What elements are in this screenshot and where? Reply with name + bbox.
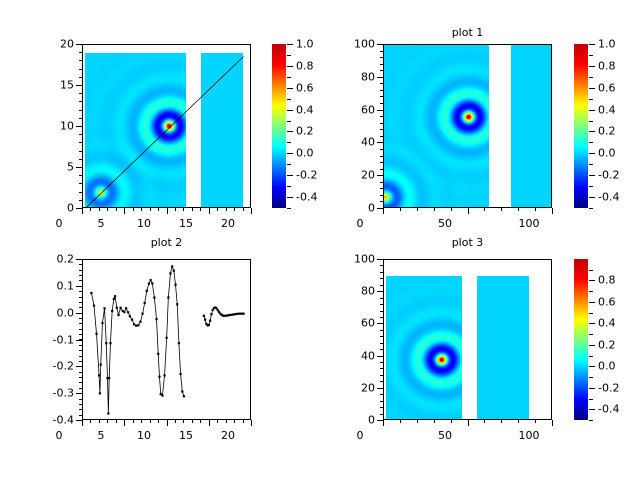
colorbar-gradient: [574, 259, 588, 420]
colorbar-tick-minor: [589, 356, 593, 357]
colorbar-tick: [589, 388, 595, 389]
y-tick-minor: [380, 375, 383, 376]
colorbar-tick-minor: [589, 420, 593, 421]
y-tick-label: 20: [335, 382, 375, 395]
figure-canvas: 0510152005101520-0.4-0.20.00.20.40.60.81…: [0, 0, 640, 480]
y-tick-minor: [380, 285, 383, 286]
colorbar-tick-label: 0.8: [598, 274, 616, 287]
colorbar-tick-label: 0.6: [598, 296, 616, 309]
colorbar-tick-label: -0.2: [598, 382, 619, 395]
colorbar-tick: [589, 280, 595, 281]
y-tick-minor: [380, 420, 383, 421]
y-tick-minor: [380, 401, 383, 402]
y-tick-minor: [380, 356, 383, 357]
colorbar-tick-label: -0.4: [598, 403, 619, 416]
panel-plot-bottom-right: plot 3020406080100050100-0.4-0.20.00.20.…: [0, 0, 640, 480]
x-tick-minor: [383, 420, 384, 423]
y-tick-minor: [380, 272, 383, 273]
y-tick-minor: [380, 394, 383, 395]
y-tick-minor: [380, 265, 383, 266]
y-tick-minor: [380, 381, 383, 382]
plot-frame: [383, 259, 552, 420]
y-tick-minor: [380, 362, 383, 363]
colorbar-tick: [589, 323, 595, 324]
x-tick-minor: [484, 420, 485, 423]
colorbar-tick-label: 0.4: [598, 317, 616, 330]
chart-title: plot 3: [383, 236, 552, 249]
y-tick-minor: [380, 330, 383, 331]
heatmap-image: [477, 276, 529, 420]
y-tick-minor: [380, 343, 383, 344]
colorbar-tick-minor: [589, 291, 593, 292]
x-tick-label: 50: [422, 429, 468, 442]
x-tick-minor: [400, 420, 401, 423]
y-tick-label: 80: [335, 285, 375, 298]
colorbar-tick-minor: [589, 270, 593, 271]
y-tick-minor: [380, 323, 383, 324]
heatmap-image: [386, 276, 462, 420]
x-tick-minor: [535, 420, 536, 423]
colorbar-tick-minor: [589, 377, 593, 378]
y-tick-minor: [380, 259, 383, 260]
colorbar-tick-label: 0.2: [598, 339, 616, 352]
colorbar-tick-minor: [589, 334, 593, 335]
y-tick-minor: [380, 311, 383, 312]
colorbar-tick: [589, 345, 595, 346]
colorbar-tick-label: 0.0: [598, 360, 616, 373]
x-tick-minor: [518, 420, 519, 423]
y-tick-minor: [380, 278, 383, 279]
y-tick-minor: [380, 304, 383, 305]
x-tick-minor: [434, 420, 435, 423]
y-tick-label: 100: [335, 253, 375, 266]
colorbar-tick: [589, 409, 595, 410]
y-tick-label: 0: [335, 414, 375, 427]
x-tick-minor: [417, 420, 418, 423]
x-tick-label: 100: [506, 429, 552, 442]
x-tick-minor: [501, 420, 502, 423]
y-tick-minor: [380, 414, 383, 415]
y-tick-label: 60: [335, 317, 375, 330]
y-tick-minor: [380, 388, 383, 389]
colorbar-tick: [589, 366, 595, 367]
y-tick-minor: [380, 298, 383, 299]
y-tick-minor: [380, 368, 383, 369]
x-tick-minor: [451, 420, 452, 423]
y-tick-minor: [380, 291, 383, 292]
x-tick-label: 0: [337, 429, 383, 442]
y-tick-minor: [380, 317, 383, 318]
colorbar-tick: [589, 302, 595, 303]
colorbar-tick-minor: [589, 399, 593, 400]
x-tick-minor: [552, 420, 553, 423]
y-tick-minor: [380, 407, 383, 408]
y-tick-minor: [380, 336, 383, 337]
y-tick-minor: [380, 349, 383, 350]
y-tick-label: 40: [335, 350, 375, 363]
x-tick-minor: [468, 420, 469, 423]
colorbar-tick-minor: [589, 313, 593, 314]
